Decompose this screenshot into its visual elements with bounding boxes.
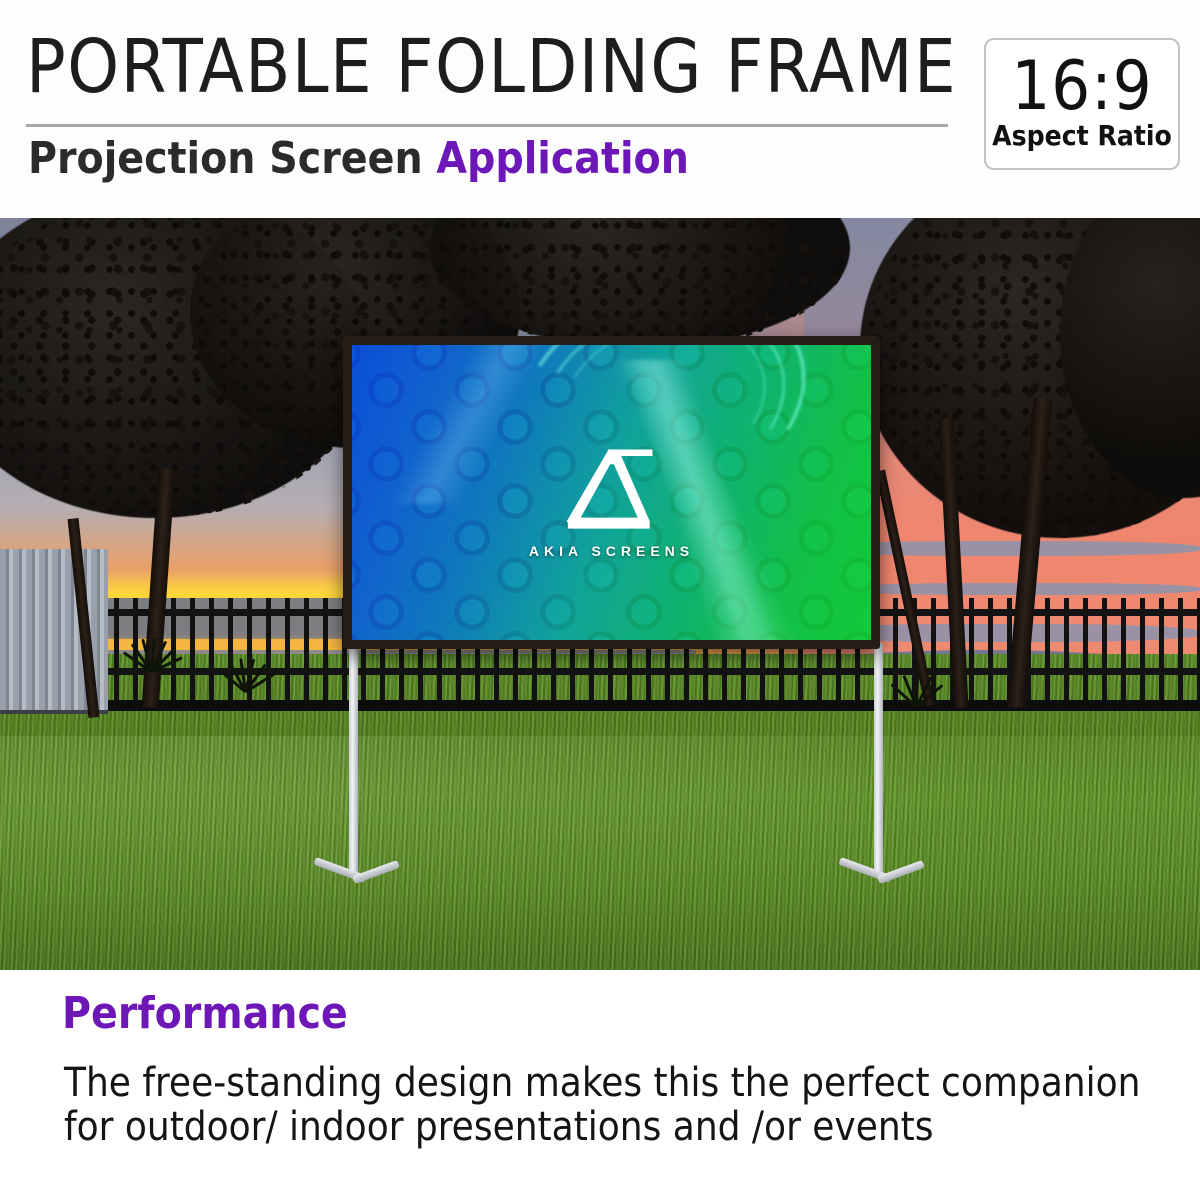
title-divider bbox=[26, 124, 948, 127]
subtitle: Projection Screen Application bbox=[28, 136, 689, 182]
stand-leg-right bbox=[874, 643, 883, 873]
projection-screen-surface: AKIA SCREENS bbox=[352, 345, 871, 640]
subtitle-accent: Application bbox=[436, 133, 688, 184]
product-photo: AKIA SCREENS bbox=[0, 218, 1200, 970]
brand-name-label: AKIA SCREENS bbox=[529, 543, 694, 559]
description-line-1: The free-standing design makes this the … bbox=[64, 1060, 1140, 1107]
title-block: PORTABLE FOLDING FRAME Projection Screen… bbox=[26, 32, 951, 102]
description-section: Performance The free-standing design mak… bbox=[0, 970, 1200, 1200]
subtitle-primary: Projection Screen bbox=[28, 133, 436, 184]
aspect-ratio-badge: 16:9 Aspect Ratio bbox=[984, 38, 1180, 170]
projection-screen-frame: AKIA SCREENS bbox=[343, 336, 880, 649]
description-line-2: for outdoor/ indoor presentations and /o… bbox=[64, 1104, 934, 1151]
page-header: PORTABLE FOLDING FRAME Projection Screen… bbox=[0, 0, 1200, 218]
akia-triangle-logo-icon bbox=[556, 444, 668, 536]
aspect-ratio-label: Aspect Ratio bbox=[992, 121, 1172, 152]
brand-logo-group: AKIA SCREENS bbox=[352, 345, 871, 640]
performance-heading: Performance bbox=[62, 992, 348, 1036]
page-title: PORTABLE FOLDING FRAME bbox=[26, 32, 942, 102]
product-feature-page: PORTABLE FOLDING FRAME Projection Screen… bbox=[0, 0, 1200, 1200]
aspect-ratio-value: 16:9 bbox=[1011, 56, 1152, 119]
stand-leg-left bbox=[349, 643, 358, 873]
